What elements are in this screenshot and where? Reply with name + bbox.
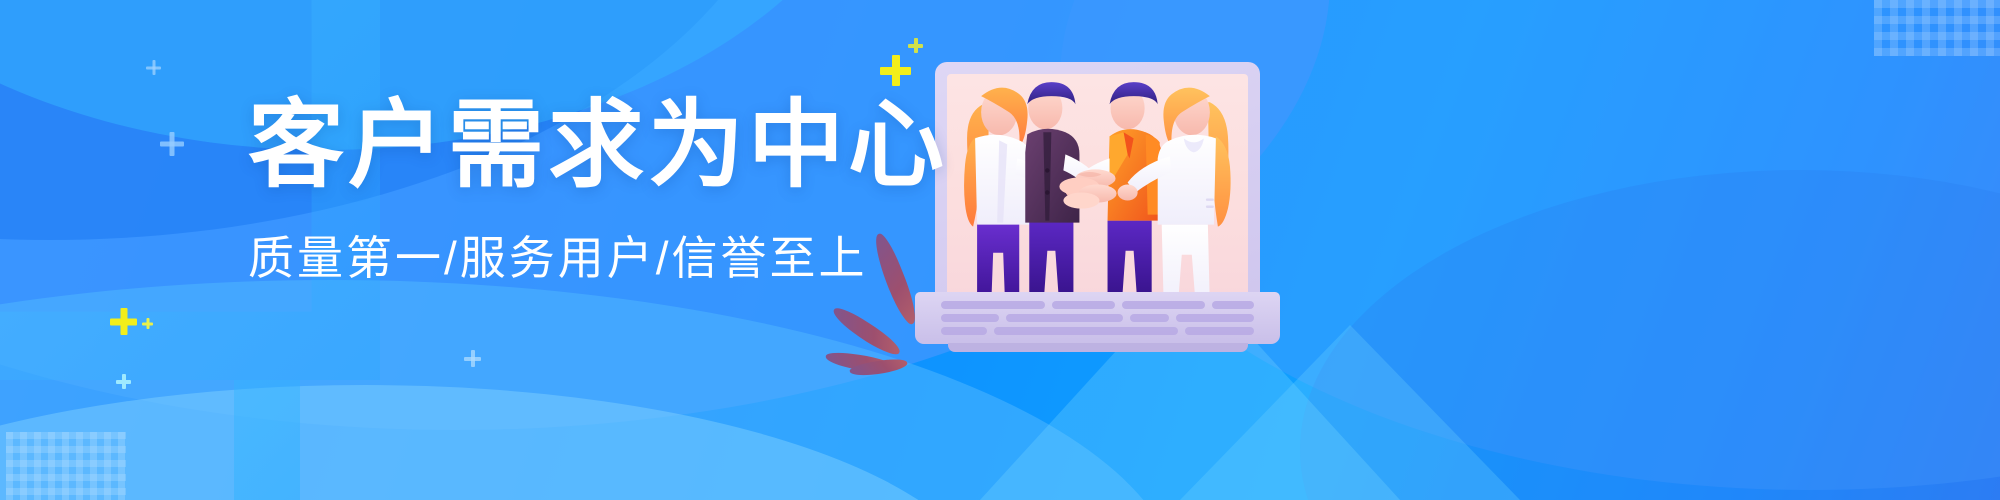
teamwork-laptop-illustration xyxy=(915,62,1280,352)
plus-yellow-small-icon xyxy=(908,38,923,53)
laptop-key xyxy=(1006,314,1123,322)
laptop-screen xyxy=(947,74,1248,307)
frond-icon-2 xyxy=(829,304,904,360)
plus-white-left-icon xyxy=(146,60,161,75)
promotional-banner: 客户需求为中心 质量第一/服务用户/信誉至上 xyxy=(0,0,2000,500)
background-wave-bottom-light xyxy=(0,385,990,500)
laptop-key xyxy=(1212,301,1254,309)
laptop-keyboard-row-1 xyxy=(941,301,1254,309)
laptop-key xyxy=(994,327,1178,335)
laptop-lid xyxy=(935,62,1260,307)
laptop-key xyxy=(941,301,1045,309)
laptop-key xyxy=(941,327,987,335)
plus-white-mid-icon xyxy=(464,350,481,367)
headline-block: 客户需求为中心 质量第一/服务用户/信誉至上 xyxy=(248,92,888,288)
laptop-keyboard-row-3 xyxy=(941,327,1254,335)
laptop-key xyxy=(1122,301,1205,309)
laptop-key xyxy=(1052,301,1115,309)
laptop-base xyxy=(915,292,1280,344)
dot-grid-bottom-left xyxy=(6,432,126,500)
laptop-key xyxy=(941,314,999,322)
laptop-key xyxy=(1185,327,1254,335)
page-title: 客户需求为中心 xyxy=(248,92,888,200)
plus-yellow-large-icon xyxy=(880,55,911,86)
laptop-keyboard-row-2 xyxy=(941,314,1254,322)
page-subtitle: 质量第一/服务用户/信誉至上 xyxy=(248,222,888,288)
teamwork-people-graphic xyxy=(947,74,1248,307)
laptop-key xyxy=(1176,314,1254,322)
plus-white-left-2-icon xyxy=(160,132,184,156)
dot-grid-top-right xyxy=(1874,0,2000,56)
laptop-key xyxy=(1130,314,1169,322)
